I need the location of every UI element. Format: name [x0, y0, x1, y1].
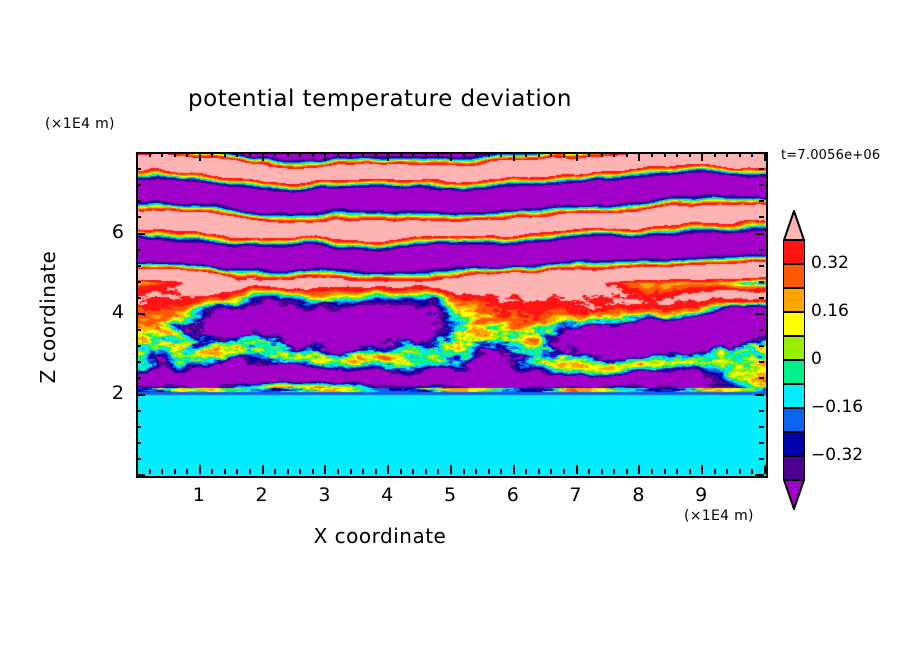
x-tick: [450, 465, 452, 474]
x-tick: [262, 465, 264, 474]
x-tick: [513, 152, 515, 161]
y-tick: [136, 442, 141, 444]
y-tick-label: 4: [94, 301, 124, 323]
x-unit-label: (×1E4 m): [684, 508, 754, 524]
y-tick: [136, 233, 145, 235]
colorbar-band: [783, 360, 805, 384]
x-tick: [249, 152, 251, 157]
x-tick: [412, 152, 414, 157]
y-tick: [136, 329, 141, 331]
y-tick: [755, 474, 764, 476]
x-tick: [739, 469, 741, 474]
x-tick: [362, 469, 364, 474]
x-tick: [475, 469, 477, 474]
y-tick: [136, 281, 141, 283]
x-tick: [538, 469, 540, 474]
y-tick: [759, 265, 764, 267]
y-tick: [759, 361, 764, 363]
x-tick: [312, 469, 314, 474]
y-tick: [759, 216, 764, 218]
y-tick: [136, 200, 141, 202]
x-tick: [199, 465, 201, 474]
x-tick: [563, 469, 565, 474]
x-tick: [701, 465, 703, 474]
x-tick: [174, 469, 176, 474]
x-tick: [450, 152, 452, 161]
y-tick: [136, 394, 145, 396]
x-tick: [664, 469, 666, 474]
x-tick: [362, 152, 364, 157]
x-tick: [701, 152, 703, 161]
x-tick: [312, 152, 314, 157]
x-tick: [249, 469, 251, 474]
x-tick: [764, 465, 766, 474]
x-tick: [475, 152, 477, 157]
x-tick: [651, 152, 653, 157]
y-tick: [759, 377, 764, 379]
colorbar-cap-high: [783, 210, 805, 240]
y-unit-label: (×1E4 m): [45, 116, 115, 132]
y-axis-title: Z coordinate: [36, 207, 60, 427]
x-tick: [425, 469, 427, 474]
x-tick: [262, 152, 264, 161]
colorbar-band: [783, 312, 805, 336]
y-tick: [759, 442, 764, 444]
x-tick-label: 5: [435, 484, 465, 506]
x-tick: [626, 152, 628, 157]
y-tick: [136, 458, 141, 460]
y-tick: [136, 410, 141, 412]
figure-root: potential temperature deviation (×1E4 m)…: [0, 0, 904, 654]
x-tick: [211, 152, 213, 157]
x-tick: [689, 152, 691, 157]
x-tick: [751, 469, 753, 474]
x-tick: [751, 152, 753, 157]
x-tick-label: 1: [184, 484, 214, 506]
x-tick-label: 9: [686, 484, 716, 506]
colorbar-band: [783, 384, 805, 408]
x-tick: [488, 469, 490, 474]
x-tick: [463, 152, 465, 157]
x-tick: [136, 465, 138, 474]
y-tick: [136, 216, 141, 218]
x-tick: [375, 469, 377, 474]
x-tick: [287, 152, 289, 157]
colorbar-tick-label: 0: [811, 349, 822, 369]
colorbar-tick-label: 0.16: [811, 301, 849, 321]
x-tick: [488, 152, 490, 157]
y-tick: [136, 313, 145, 315]
x-tick: [236, 152, 238, 157]
colorbar-tick-label: −0.16: [811, 397, 863, 417]
timestamp-annotation: t=7.0056e+06: [781, 148, 880, 163]
x-tick: [174, 152, 176, 157]
x-tick: [337, 469, 339, 474]
x-tick: [274, 469, 276, 474]
x-tick-label: 6: [498, 484, 528, 506]
colorbar-tick-label: 0.32: [811, 253, 849, 273]
x-tick: [525, 152, 527, 157]
y-tick: [759, 184, 764, 186]
x-tick-label: 8: [623, 484, 653, 506]
x-tick: [513, 465, 515, 474]
y-tick: [759, 200, 764, 202]
y-tick: [136, 426, 141, 428]
x-tick: [676, 469, 678, 474]
x-tick: [437, 469, 439, 474]
x-tick: [576, 152, 578, 161]
x-tick: [538, 152, 540, 157]
y-tick: [755, 313, 764, 315]
x-tick: [350, 152, 352, 157]
x-tick: [186, 469, 188, 474]
y-tick: [136, 168, 141, 170]
page-title: potential temperature deviation: [0, 86, 760, 112]
x-tick: [350, 469, 352, 474]
x-tick: [525, 469, 527, 474]
x-tick: [676, 152, 678, 157]
x-tick: [161, 469, 163, 474]
x-tick: [726, 152, 728, 157]
colorbar-cap-low: [783, 480, 805, 510]
y-tick: [755, 152, 764, 154]
x-tick: [387, 465, 389, 474]
x-tick: [550, 152, 552, 157]
x-tick: [400, 152, 402, 157]
y-tick: [759, 297, 764, 299]
x-tick: [601, 469, 603, 474]
x-tick: [149, 469, 151, 474]
x-tick: [149, 152, 151, 157]
x-tick: [651, 469, 653, 474]
x-tick: [337, 152, 339, 157]
x-tick-label: 2: [247, 484, 277, 506]
x-tick: [601, 152, 603, 157]
x-tick: [299, 469, 301, 474]
x-tick: [664, 152, 666, 157]
x-tick: [588, 152, 590, 157]
x-tick: [412, 469, 414, 474]
x-tick: [224, 152, 226, 157]
x-tick: [287, 469, 289, 474]
y-tick: [136, 297, 141, 299]
x-tick: [425, 152, 427, 157]
colorbar-band: [783, 456, 805, 480]
x-tick: [324, 152, 326, 161]
colorbar-band: [783, 240, 805, 264]
x-tick: [638, 465, 640, 474]
x-tick: [161, 152, 163, 157]
x-tick-label: 4: [372, 484, 402, 506]
y-tick: [136, 377, 141, 379]
y-tick: [755, 394, 764, 396]
y-tick: [136, 265, 141, 267]
colorbar: 0.320.160−0.16−0.32: [783, 210, 805, 510]
y-tick: [759, 281, 764, 283]
y-tick: [755, 233, 764, 235]
x-tick: [764, 152, 766, 161]
x-tick: [613, 469, 615, 474]
x-tick: [500, 469, 502, 474]
x-tick: [387, 152, 389, 161]
x-tick: [375, 152, 377, 157]
x-tick: [588, 469, 590, 474]
y-tick: [136, 345, 141, 347]
x-tick: [714, 469, 716, 474]
x-axis-title: X coordinate: [0, 524, 760, 548]
temperature-deviation-field: [138, 154, 766, 476]
y-tick-label: 6: [94, 221, 124, 243]
y-tick: [759, 410, 764, 412]
x-tick: [324, 465, 326, 474]
x-tick: [299, 152, 301, 157]
x-tick: [437, 152, 439, 157]
colorbar-band: [783, 288, 805, 312]
x-tick: [274, 152, 276, 157]
contour-plot-area: [136, 152, 768, 478]
x-tick: [550, 469, 552, 474]
x-tick: [463, 469, 465, 474]
x-tick: [613, 152, 615, 157]
colorbar-band: [783, 432, 805, 456]
y-tick: [759, 249, 764, 251]
colorbar-band: [783, 336, 805, 360]
x-tick: [224, 469, 226, 474]
y-tick: [759, 168, 764, 170]
x-tick: [186, 152, 188, 157]
y-tick: [759, 345, 764, 347]
x-tick: [199, 152, 201, 161]
x-tick: [626, 469, 628, 474]
x-tick: [400, 469, 402, 474]
y-tick: [759, 426, 764, 428]
x-tick: [638, 152, 640, 161]
y-tick: [759, 458, 764, 460]
x-tick: [236, 469, 238, 474]
x-tick: [500, 152, 502, 157]
x-tick-label: 3: [309, 484, 339, 506]
y-tick: [136, 152, 145, 154]
x-tick: [689, 469, 691, 474]
colorbar-tick-label: −0.32: [811, 445, 863, 465]
y-tick: [136, 249, 141, 251]
colorbar-band: [783, 264, 805, 288]
y-tick: [136, 361, 141, 363]
x-tick: [211, 469, 213, 474]
y-tick: [759, 329, 764, 331]
y-tick: [136, 474, 145, 476]
x-tick: [563, 152, 565, 157]
colorbar-band: [783, 408, 805, 432]
x-tick: [714, 152, 716, 157]
x-tick-label: 7: [561, 484, 591, 506]
y-tick: [136, 184, 141, 186]
x-tick: [726, 469, 728, 474]
x-tick: [739, 152, 741, 157]
y-tick-label: 2: [94, 382, 124, 404]
x-tick: [576, 465, 578, 474]
